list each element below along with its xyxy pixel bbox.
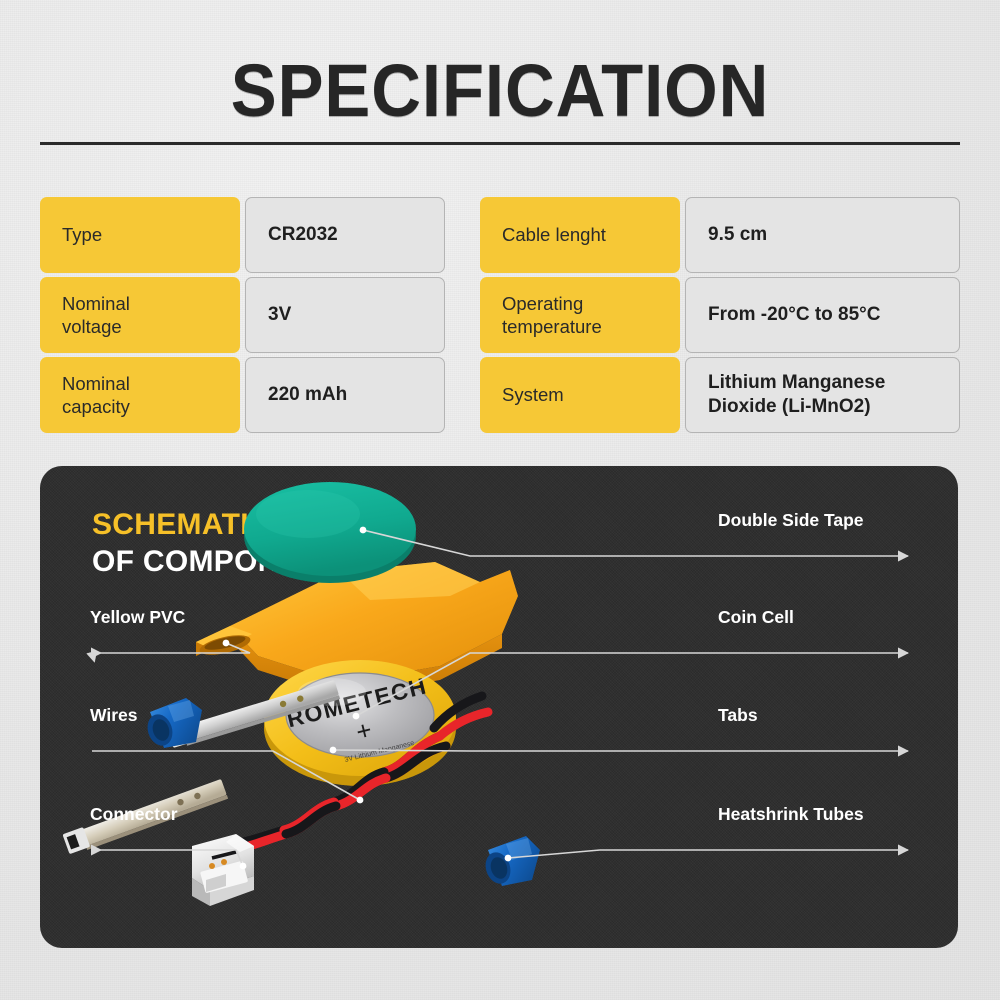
table-column-gap: [445, 357, 480, 433]
callout-lines: [40, 466, 958, 948]
spec-label-type: Type: [40, 197, 240, 273]
spec-value-system: Lithium ManganeseDioxide (Li-MnO2): [685, 357, 960, 433]
callout-label-double-side-tape: Double Side Tape: [718, 510, 864, 531]
callout-label-yellow-pvc: Yellow PVC: [90, 607, 185, 628]
spec-label-nominal-capacity: Nominalcapacity: [40, 357, 240, 433]
table-column-gap: [445, 277, 480, 353]
callout-line-coin-cell: [356, 653, 908, 716]
callout-label-wires: Wires: [90, 705, 138, 726]
callout-line-connector: [92, 850, 243, 866]
spec-value-nominal-voltage: 3V: [245, 277, 445, 353]
spec-label-cable-lenght: Cable lenght: [480, 197, 680, 273]
callout-label-coin-cell: Coin Cell: [718, 607, 794, 628]
callout-line-wires: [92, 751, 360, 800]
spec-value-cable-lenght: 9.5 cm: [685, 197, 960, 273]
specification-table: Type CR2032 Cable lenght 9.5 cm Nominalv…: [40, 197, 960, 433]
callout-line-double-side-tape: [363, 530, 908, 556]
spec-label-system: System: [480, 357, 680, 433]
title-divider: [40, 142, 960, 145]
schematic-panel: SCHEMATIC LAYOUT OF COMPONENTS: [40, 466, 958, 948]
callout-line-tabs: [333, 750, 908, 751]
spec-value-nominal-capacity: 220 mAh: [245, 357, 445, 433]
spec-label-operating-temperature: Operatingtemperature: [480, 277, 680, 353]
callout-line-heatshrink-tubes: [508, 850, 908, 858]
callout-label-connector: Connector: [90, 804, 178, 825]
table-column-gap: [445, 197, 480, 273]
spec-label-nominal-voltage: Nominalvoltage: [40, 277, 240, 353]
spec-value-type: CR2032: [245, 197, 445, 273]
callout-label-tabs: Tabs: [718, 705, 758, 726]
callout-label-heatshrink-tubes: Heatshrink Tubes: [718, 804, 864, 825]
spec-value-operating-temperature: From -20°C to 85°C: [685, 277, 960, 353]
page-title: SPECIFICATION: [35, 48, 965, 133]
